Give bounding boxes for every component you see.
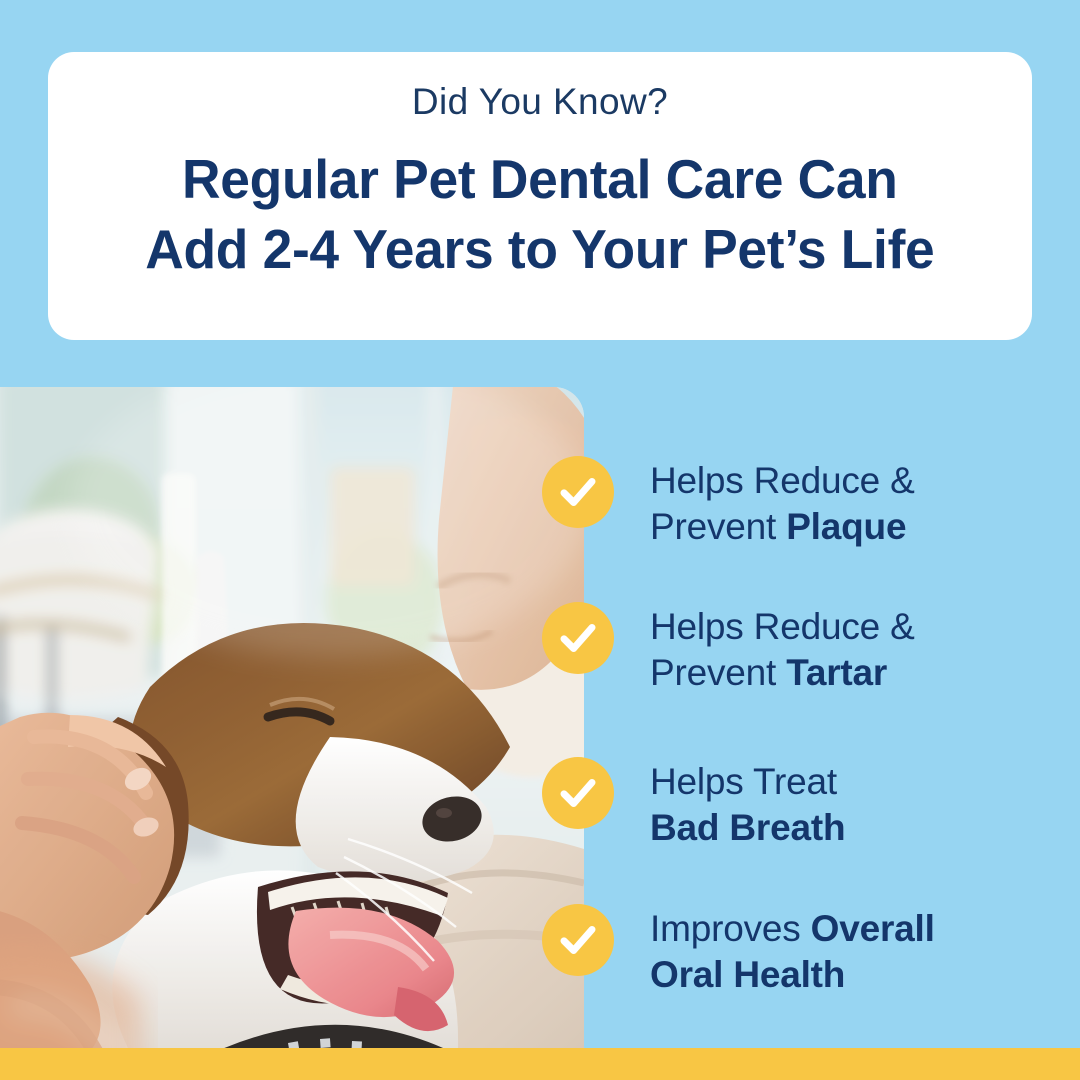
list-item: Improves OverallOral Health: [542, 904, 935, 998]
benefit-line1-plain: Improves: [650, 908, 811, 949]
dog-and-owner-photo: [0, 387, 584, 1048]
benefit-line2-bold: Bad Breath: [650, 807, 845, 848]
headline-card: Did You Know? Regular Pet Dental Care Ca…: [48, 52, 1032, 340]
benefit-line2-bold: Tartar: [786, 652, 887, 693]
benefit-line1: Helps Treat: [650, 761, 837, 802]
footer-accent-bar: [0, 1048, 1080, 1080]
check-icon: [542, 602, 614, 674]
benefit-line1: Helps Reduce &: [650, 606, 915, 647]
benefit-line2-bold: Plaque: [786, 506, 906, 547]
benefit-text: Helps TreatBad Breath: [650, 757, 845, 851]
benefit-line1: Helps Reduce &: [650, 460, 915, 501]
check-icon: [542, 904, 614, 976]
benefit-line2-plain: Prevent: [650, 652, 786, 693]
check-icon: [542, 757, 614, 829]
benefit-text: Improves OverallOral Health: [650, 904, 935, 998]
benefit-line1-bold: Overall: [811, 908, 935, 949]
page-title: Regular Pet Dental Care Can Add 2-4 Year…: [145, 145, 934, 285]
list-item: Helps Reduce &Prevent Tartar: [542, 602, 915, 696]
eyebrow-text: Did You Know?: [412, 82, 668, 123]
list-item: Helps Reduce &Prevent Plaque: [542, 456, 915, 550]
list-item: Helps TreatBad Breath: [542, 757, 845, 851]
benefit-text: Helps Reduce &Prevent Plaque: [650, 456, 915, 550]
benefit-line2-bold: Oral Health: [650, 954, 845, 995]
benefit-text: Helps Reduce &Prevent Tartar: [650, 602, 915, 696]
check-icon: [542, 456, 614, 528]
hero-photo: [0, 387, 584, 1048]
benefits-list: Helps Reduce &Prevent Plaque Helps Reduc…: [542, 430, 1012, 1010]
benefit-line2-plain: Prevent: [650, 506, 786, 547]
